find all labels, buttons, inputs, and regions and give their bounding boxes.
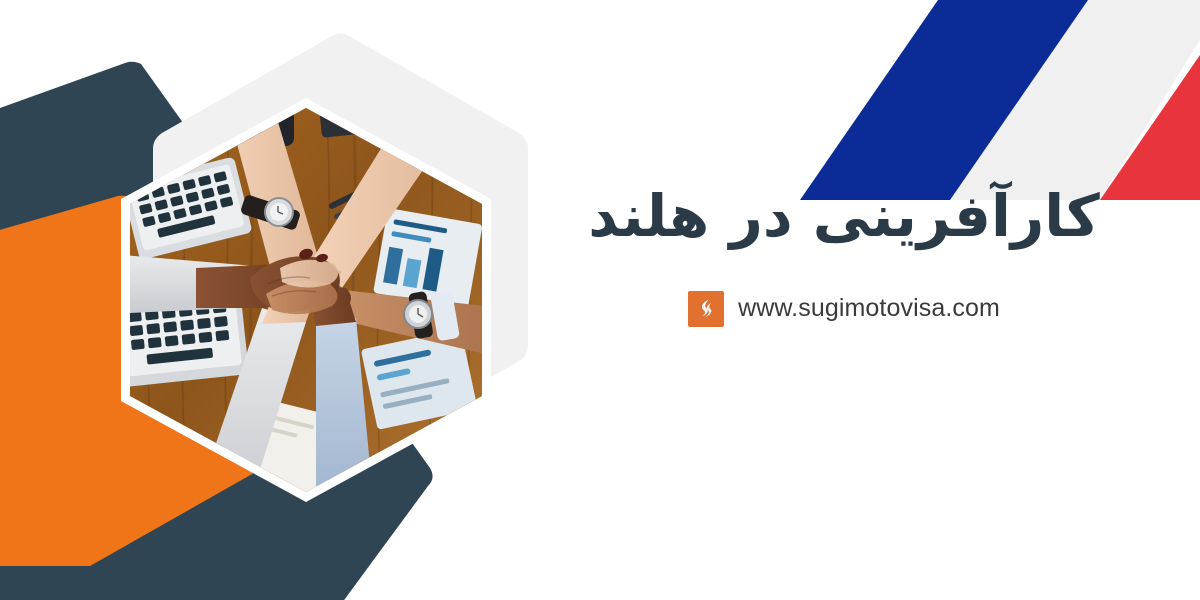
page-title: کارآفرینی در هلند bbox=[544, 180, 1144, 253]
blue-stripe bbox=[800, 0, 1200, 200]
photo-hexagon bbox=[121, 98, 491, 502]
banner-content: کارآفرینی در هلند www.sugimotovisa.com bbox=[544, 180, 1144, 327]
promo-banner: کارآفرینی در هلند www.sugimotovisa.com bbox=[0, 0, 1200, 600]
white-stripe bbox=[950, 0, 1200, 200]
sugimoto-logo-icon bbox=[688, 291, 724, 327]
netherlands-flag-stripes bbox=[680, 0, 1200, 200]
website-url[interactable]: www.sugimotovisa.com bbox=[738, 294, 1000, 323]
website-url-row[interactable]: www.sugimotovisa.com bbox=[544, 291, 1144, 327]
red-stripe bbox=[1100, 0, 1200, 200]
